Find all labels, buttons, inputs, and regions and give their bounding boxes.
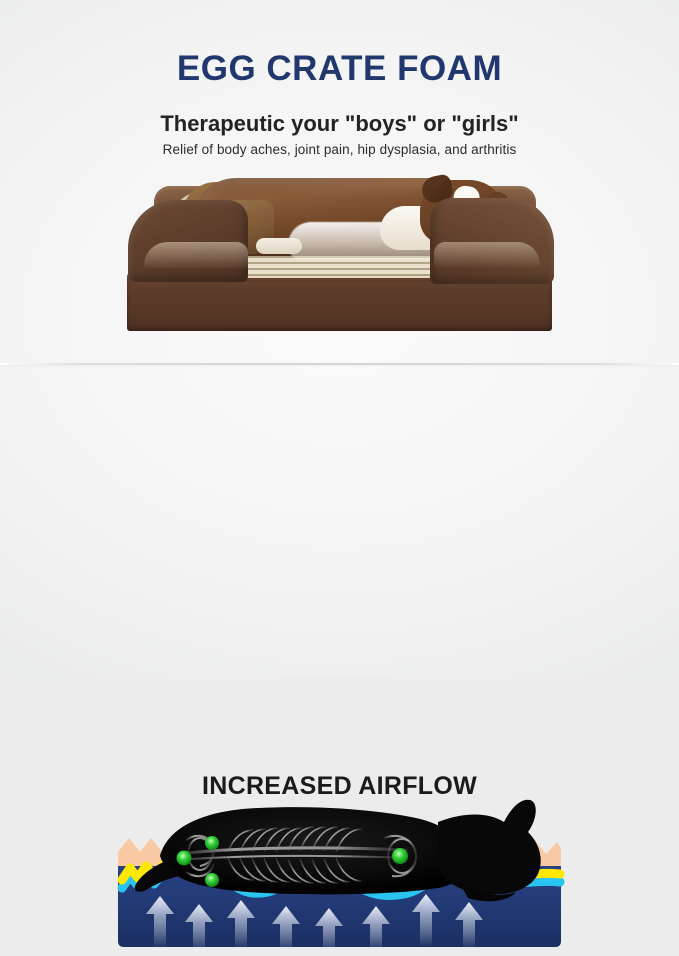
egg-crate-foam-panel: EGG CRATE FOAM Therapeutic your "boys" o… — [0, 0, 679, 364]
benefits-text: Relief of body aches, joint pain, hip dy… — [0, 142, 679, 157]
pressure-point — [205, 873, 219, 887]
dog-head-silhouette — [438, 800, 541, 895]
product-photo-dog-bed — [118, 168, 561, 336]
airflow-diagram-svg — [108, 796, 571, 951]
subtitle: Therapeutic your "boys" or "girls" — [0, 111, 679, 137]
pressure-point — [392, 848, 408, 864]
product-infographic: EGG CRATE FOAM Therapeutic your "boys" o… — [0, 0, 679, 679]
dog-paw — [256, 238, 302, 254]
increased-airflow-panel: INCREASED AIRFLOW — [0, 364, 679, 679]
page-title: EGG CRATE FOAM — [0, 49, 679, 89]
airflow-cross-section-diagram — [108, 796, 571, 951]
bed-left-arm-bolster — [128, 200, 248, 282]
pressure-point — [177, 851, 192, 866]
pressure-point — [205, 836, 219, 850]
bed-right-arm-bolster — [430, 198, 554, 284]
